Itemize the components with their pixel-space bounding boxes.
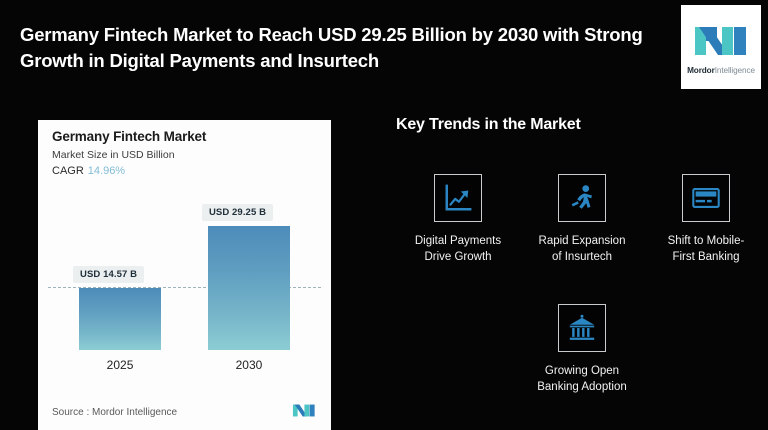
chart-card: Germany Fintech Market Market Size in US… (38, 120, 331, 430)
brand-wordmark: MordorIntelligence (687, 66, 755, 75)
mordor-intelligence-mi-logo-icon (693, 21, 749, 61)
line-chart-growth-icon (443, 183, 473, 213)
trend-label: Growing Open Banking Adoption (537, 363, 627, 396)
trends-heading: Key Trends in the Market (396, 116, 581, 134)
chart-subtitle: Market Size in USD Billion (52, 149, 175, 161)
trend-icon-box (558, 174, 606, 222)
trend-label: Shift to Mobile- First Banking (668, 233, 745, 266)
trend-icon-box (682, 174, 730, 222)
trend-item-digital-payments[interactable]: Digital Payments Drive Growth (398, 174, 518, 266)
bank-building-icon (567, 313, 597, 343)
chart-bar-value-label: USD 14.57 B (73, 266, 144, 283)
trend-icon-box (434, 174, 482, 222)
chart-cagr: CAGR14.96% (52, 165, 125, 177)
chart-cagr-label: CAGR (52, 165, 84, 177)
trend-item-open-banking[interactable]: Growing Open Banking Adoption (522, 304, 642, 396)
trend-label: Rapid Expansion of Insurtech (539, 233, 626, 266)
chart-title: Germany Fintech Market (52, 129, 206, 144)
chart-plot-area: USD 14.57 B2025USD 29.25 B2030 (38, 180, 331, 378)
chart-source: Source : Mordor Intelligence (52, 407, 177, 418)
chart-x-axis-tick: 2030 (219, 358, 279, 372)
chart-x-axis-tick: 2025 (90, 358, 150, 372)
chart-cagr-value: 14.96% (88, 165, 125, 177)
chart-bar[interactable] (208, 226, 290, 350)
brand-name-bold: Mordor (687, 66, 715, 75)
trend-item-mobile-first-banking[interactable]: Shift to Mobile- First Banking (646, 174, 766, 266)
running-person-icon (567, 183, 597, 213)
page-title: Germany Fintech Market to Reach USD 29.2… (20, 22, 650, 75)
mordor-intelligence-mi-mark-icon (291, 402, 317, 419)
trend-item-insurtech[interactable]: Rapid Expansion of Insurtech (522, 174, 642, 266)
trend-icon-box (558, 304, 606, 352)
brand-logo: MordorIntelligence (681, 5, 761, 89)
brand-name-light: Intelligence (715, 66, 755, 75)
trend-label: Digital Payments Drive Growth (415, 233, 501, 266)
chart-bar[interactable] (79, 288, 161, 350)
chart-bar-value-label: USD 29.25 B (202, 204, 273, 221)
credit-card-icon (690, 182, 722, 214)
